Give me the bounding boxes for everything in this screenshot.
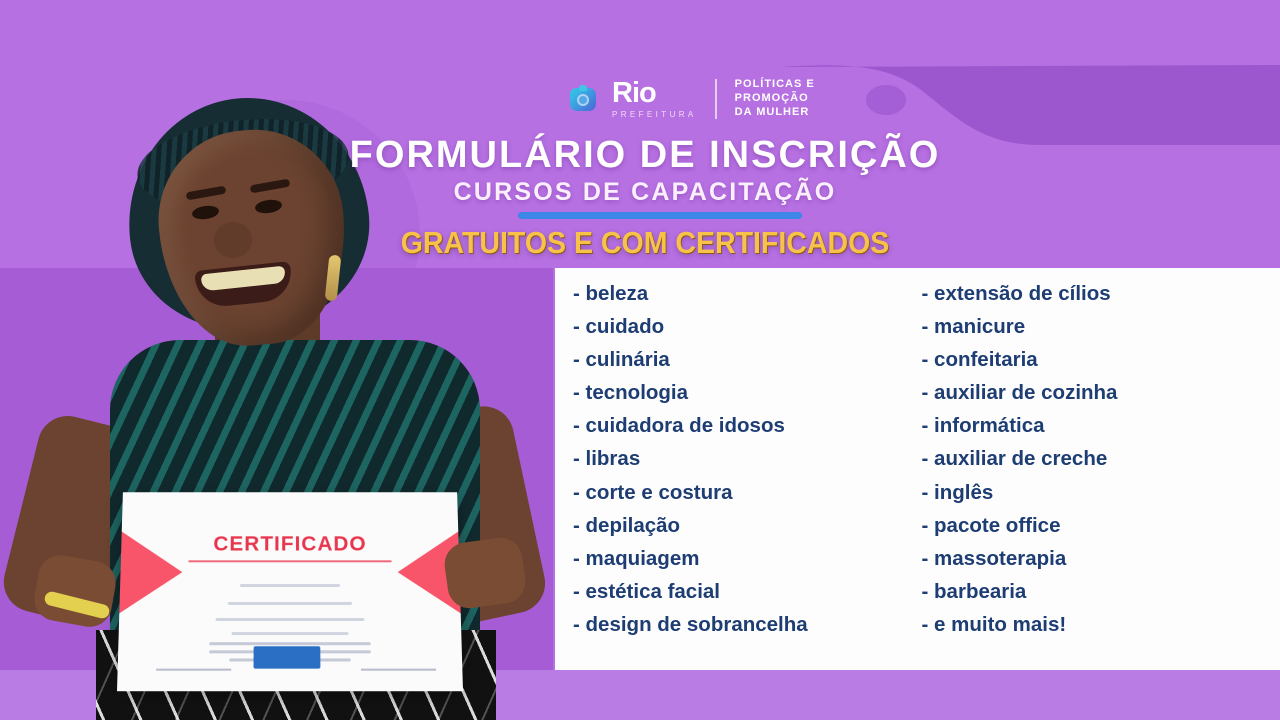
course-item: - estética facial	[573, 582, 922, 603]
course-item: - libras	[573, 449, 922, 470]
certificate-signature-right	[361, 669, 436, 671]
hand-right	[442, 535, 528, 611]
course-item: - cuidado	[573, 317, 922, 338]
course-item: - tecnologia	[573, 383, 922, 404]
course-item: - confeitaria	[922, 350, 1280, 371]
course-item: - e muito mais!	[922, 615, 1280, 636]
brand-secretariat-line-3: DA MULHER	[735, 106, 815, 120]
brand-logo-row: Rio PREFEITURA POLÍTICAS E PROMOÇÃO DA M…	[568, 78, 815, 119]
certificate-document: CERTIFICADO	[117, 492, 463, 691]
certificate-text-line	[240, 584, 340, 587]
title-divider	[518, 212, 802, 219]
poster-canvas: CERTIFICADO Rio PREFEITURA	[0, 0, 1280, 720]
brand-wordmark: Rio PREFEITURA	[612, 79, 697, 119]
page-title: FORMULÁRIO DE INSCRIÇÃO	[340, 134, 950, 177]
courses-right-column: - extensão de cílios - manicure - confei…	[922, 268, 1280, 670]
course-item: - massoterapia	[922, 549, 1280, 570]
course-item: - pacote office	[922, 516, 1280, 537]
brand-prefeitura-label: PREFEITURA	[612, 111, 697, 119]
course-item: - extensão de cílios	[922, 284, 1280, 305]
course-item: - cuidadora de idosos	[573, 416, 922, 437]
teeth	[201, 266, 286, 292]
brand-secretariat-line-1: POLÍTICAS E	[735, 78, 815, 92]
course-item: - corte e costura	[573, 483, 922, 504]
course-item: - maquiagem	[573, 549, 922, 570]
course-item: - depilação	[573, 516, 922, 537]
course-item: - informática	[922, 416, 1280, 437]
course-item: - design de sobrancelha	[573, 615, 922, 636]
certificate-rule	[188, 560, 391, 562]
page-subtitle: CURSOS DE CAPACITAÇÃO	[340, 178, 950, 207]
rio-prefeitura-icon	[568, 85, 598, 113]
brand-secretariat: POLÍTICAS E PROMOÇÃO DA MULHER	[735, 78, 815, 119]
certificate-paragraph-line	[209, 642, 371, 645]
certificate-title: CERTIFICADO	[121, 533, 459, 556]
brand-divider	[715, 79, 717, 119]
course-item: - manicure	[922, 317, 1280, 338]
brand-rio-label: Rio	[612, 79, 697, 108]
headline-banner: GRATUITOS E COM CERTIFICADOS	[364, 225, 925, 261]
decorative-dot	[866, 85, 906, 115]
course-item: - culinária	[573, 350, 922, 371]
courses-panel: - beleza - cuidado - culinária - tecnolo…	[555, 268, 1280, 670]
certificate-signature-left	[156, 669, 231, 671]
course-item: - auxiliar de cozinha	[922, 383, 1280, 404]
certificate-text-line	[232, 632, 349, 635]
certificate-text-line	[228, 602, 352, 605]
course-item: - auxiliar de creche	[922, 449, 1280, 470]
course-item: - barbearia	[922, 582, 1280, 603]
certificate-text-line	[216, 618, 365, 621]
course-item: - beleza	[573, 284, 922, 305]
courses-left-column: - beleza - cuidado - culinária - tecnolo…	[555, 268, 922, 670]
course-item: - inglês	[922, 483, 1280, 504]
certificate-rio-logo	[254, 646, 321, 668]
brand-secretariat-line-2: PROMOÇÃO	[735, 92, 815, 106]
